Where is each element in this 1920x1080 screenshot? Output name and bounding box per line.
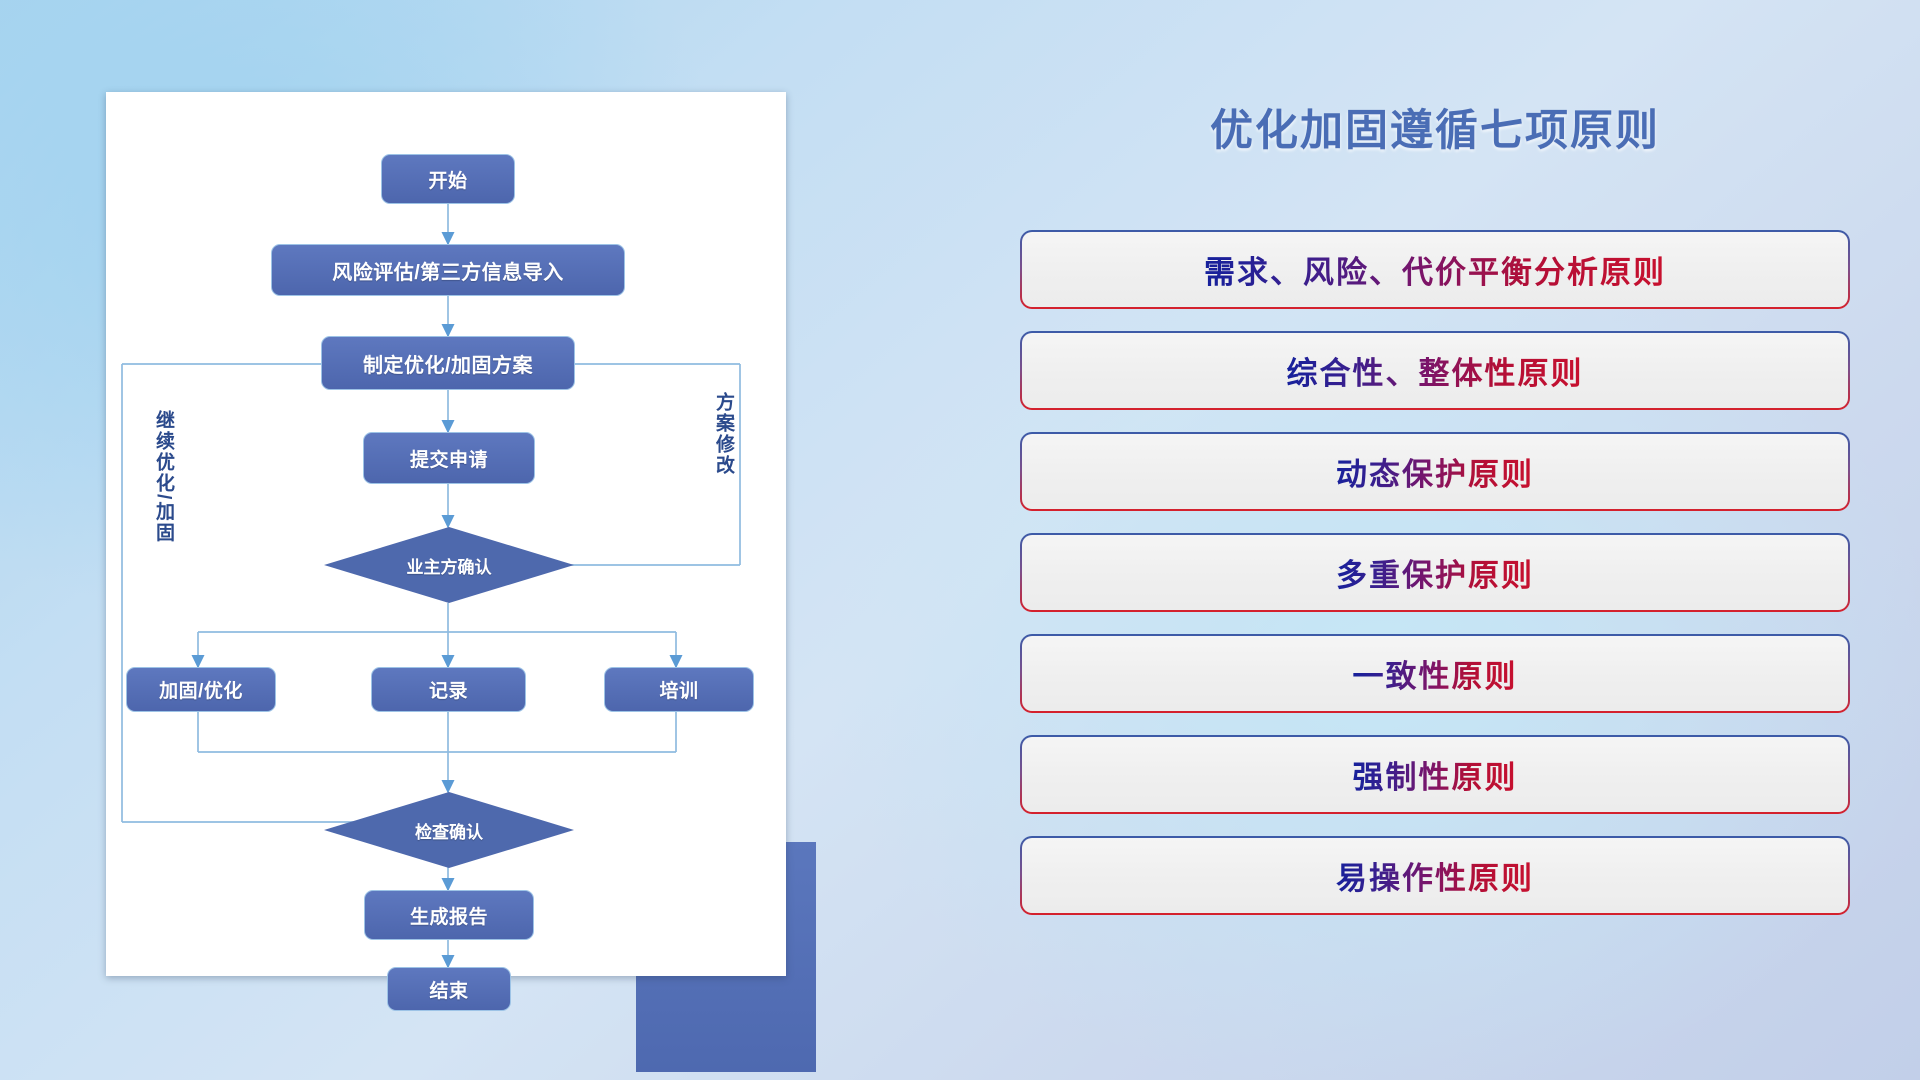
principle-label: 多重保护原则 (1336, 550, 1534, 595)
principle-item[interactable]: 多重保护原则 (1020, 533, 1850, 612)
principle-item[interactable]: 需求、风险、代价平衡分析原则 (1020, 230, 1850, 309)
principle-item[interactable]: 综合性、整体性原则 (1020, 331, 1850, 410)
principle-item-inner: 需求、风险、代价平衡分析原则 (1022, 232, 1848, 307)
flowchart-card: 继续优化/加固 方案修改 开始 风险评估/第三方信息导入 制定优化/加固方案 提… (106, 92, 786, 976)
edge-label-right: 方案修改 (710, 392, 737, 532)
principles-panel: 优化加固遵循七项原则 需求、风险、代价平衡分析原则 综合性、整体性原则 动态保护… (1020, 96, 1850, 1006)
principle-label: 综合性、整体性原则 (1287, 348, 1584, 393)
principle-item[interactable]: 易操作性原则 (1020, 836, 1850, 915)
principle-label: 一致性原则 (1353, 651, 1518, 696)
principle-item[interactable]: 一致性原则 (1020, 634, 1850, 713)
principle-item-inner: 动态保护原则 (1022, 434, 1848, 509)
flow-node-record[interactable]: 记录 (371, 667, 526, 712)
principles-list: 需求、风险、代价平衡分析原则 综合性、整体性原则 动态保护原则 多重保护原则 一… (1020, 230, 1850, 937)
page-title: 优化加固遵循七项原则 (1020, 96, 1850, 158)
edge-label-left: 继续优化/加固 (150, 410, 177, 610)
principle-item-inner: 易操作性原则 (1022, 838, 1848, 913)
principle-label: 动态保护原则 (1336, 449, 1534, 494)
flowchart-panel: 继续优化/加固 方案修改 开始 风险评估/第三方信息导入 制定优化/加固方案 提… (106, 92, 786, 976)
flow-node-reinforce-optimize[interactable]: 加固/优化 (126, 667, 276, 712)
principle-label: 需求、风险、代价平衡分析原则 (1204, 247, 1666, 292)
principle-item-inner: 一致性原则 (1022, 636, 1848, 711)
principle-label: 易操作性原则 (1336, 853, 1534, 898)
principle-item-inner: 多重保护原则 (1022, 535, 1848, 610)
principle-item[interactable]: 强制性原则 (1020, 735, 1850, 814)
flow-node-risk-assessment[interactable]: 风险评估/第三方信息导入 (271, 244, 625, 296)
principle-item[interactable]: 动态保护原则 (1020, 432, 1850, 511)
principle-item-inner: 综合性、整体性原则 (1022, 333, 1848, 408)
flow-node-submit-application[interactable]: 提交申请 (363, 432, 535, 484)
flow-node-end[interactable]: 结束 (387, 967, 511, 1011)
principle-item-inner: 强制性原则 (1022, 737, 1848, 812)
flow-node-make-plan[interactable]: 制定优化/加固方案 (321, 336, 575, 390)
flow-node-start[interactable]: 开始 (381, 154, 515, 204)
flow-node-generate-report[interactable]: 生成报告 (364, 890, 534, 940)
principle-label: 强制性原则 (1353, 752, 1518, 797)
flow-node-training[interactable]: 培训 (604, 667, 754, 712)
